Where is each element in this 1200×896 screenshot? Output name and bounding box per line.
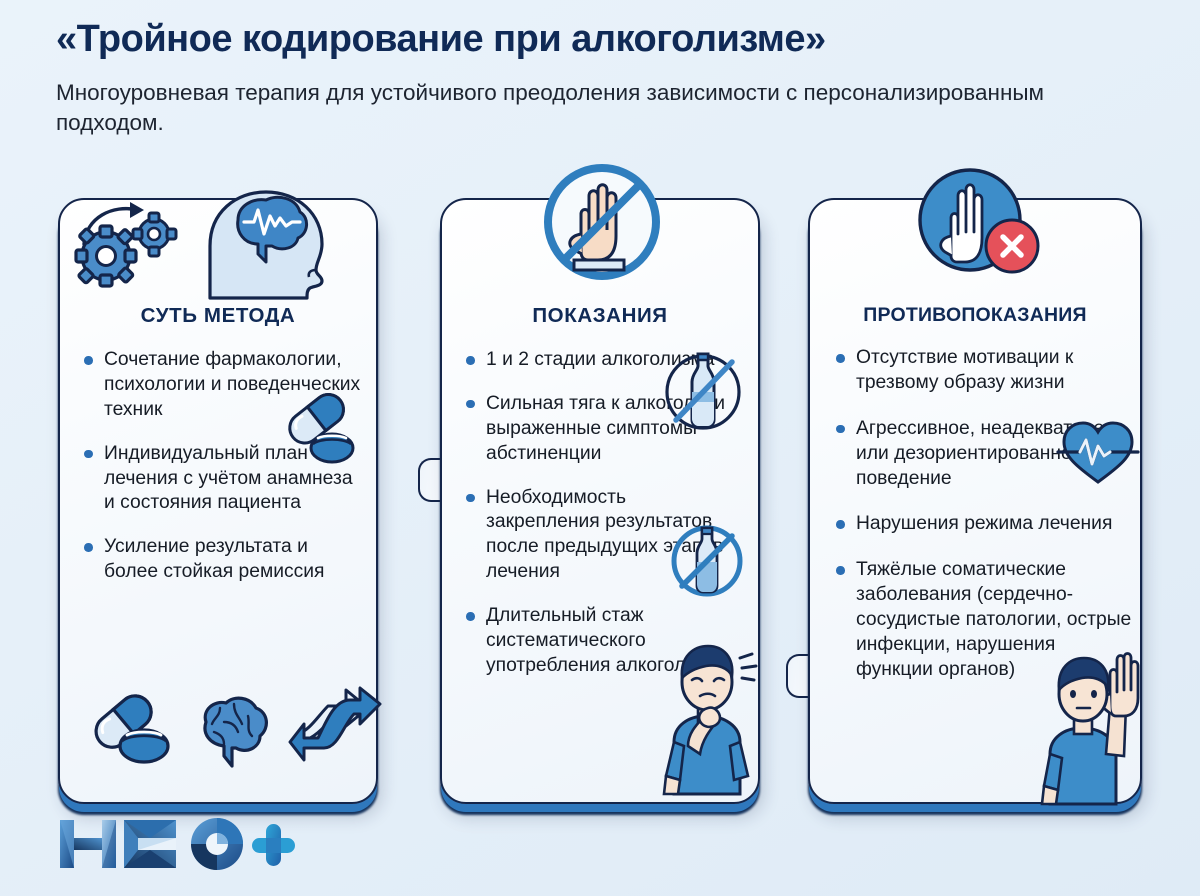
card-3-bullet-list: Отсутствие мотивации к трезвому образу ж… [834,346,1132,704]
card-1-heading: СУТЬ МЕТОДА [60,304,376,328]
list-item: Тяжёлые соматические заболевания (сердеч… [834,558,1132,682]
stop-hand-prohibition-icon [442,174,758,294]
list-item: Сильная тяга к алкоголю и выраженные сим… [464,392,744,467]
header: «Тройное кодирование при алкоголизме» Мн… [0,0,1200,138]
page-title: «Тройное кодирование при алкоголизме» [56,18,1144,62]
list-item: Необходимость закрепления результатов по… [464,486,744,586]
gears-and-brain-head-icon [60,174,376,294]
cards-container: СУТЬ МЕТОДА Сочетание фармакологии, псих… [0,186,1200,816]
card-1-bullet-list: Сочетание фармакологии, психологии и пов… [82,348,362,604]
neo-plus-logo[interactable] [58,816,298,874]
list-item: Усиление результата и более стойкая реми… [82,535,362,585]
card-2-heading: ПОКАЗАНИЯ [442,304,758,328]
list-item: Длительный стаж систематического употреб… [464,604,744,679]
page-subtitle: Многоуровневая терапия для устойчивого п… [56,78,1144,138]
shuffle-arrows-icon [288,672,384,768]
list-item: 1 и 2 стадии алкоголизма [464,348,744,373]
card-pokazaniya[interactable]: ПОКАЗАНИЯ 1 и 2 стадии алкоголизма Сильн… [440,198,760,804]
blue-hand-red-cross-icon [810,174,1140,294]
pills-icon [86,678,186,774]
list-item: Нарушения режима лечения [834,512,1132,537]
list-item: Агрессивное, неадекватное или дезориенти… [834,417,1132,492]
list-item: Индивидуальный план лечения с учётом ана… [82,442,362,517]
list-item: Отсутствие мотивации к трезвому образу ж… [834,346,1132,396]
card-sut-metoda[interactable]: СУТЬ МЕТОДА Сочетание фармакологии, псих… [58,198,378,804]
card-protivopokazaniya[interactable]: ПРОТИВОПОКАЗАНИЯ Отсутствие мотивации к … [808,198,1142,804]
list-item: Сочетание фармакологии, психологии и пов… [82,348,362,423]
card-2-bullet-list: 1 и 2 стадии алкоголизма Сильная тяга к … [464,348,744,698]
card-3-heading: ПРОТИВОПОКАЗАНИЯ [810,304,1140,327]
brain-icon [190,692,274,772]
